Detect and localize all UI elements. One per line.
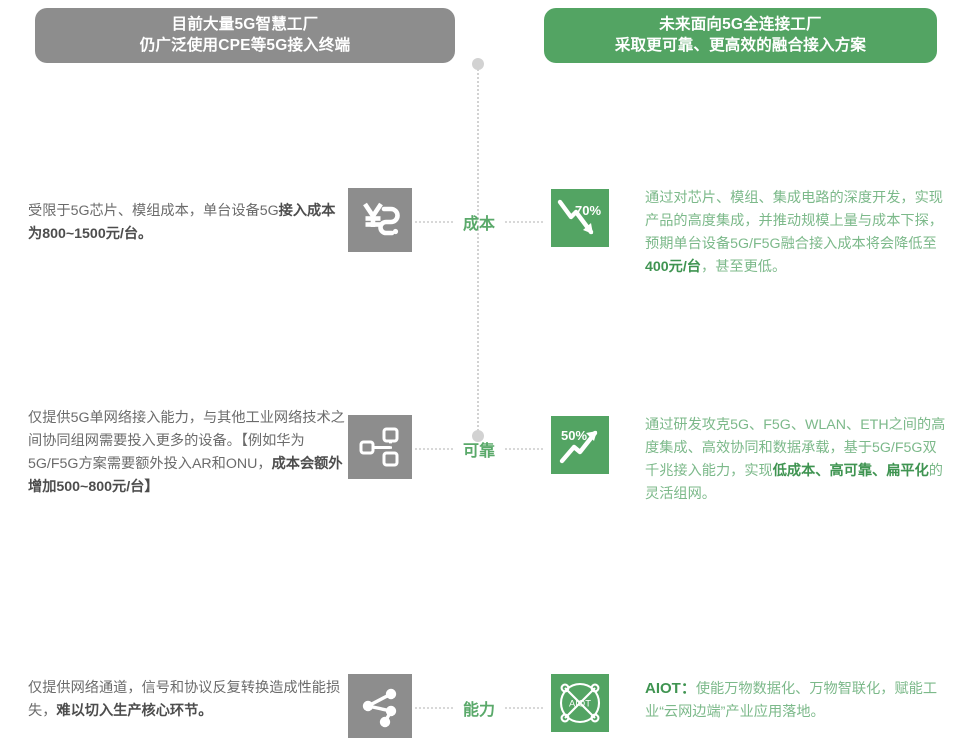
header-right-line1: 未来面向5G全连接工厂: [659, 15, 821, 35]
aiot-orbit-icon: AIOT: [551, 674, 609, 732]
connector-capability: 能力: [415, 699, 543, 717]
connector-dash-right: [505, 707, 543, 709]
header-right-line2: 采取更可靠、更高效的融合接入方案: [615, 36, 866, 56]
row-reliability-right-text-bold: 低成本、高可靠、扁平化: [773, 463, 929, 479]
comparison-row-cost: 受限于5G芯片、模组成本，单台设备5G接入成本为800~1500元/台。 成本 …: [0, 88, 953, 198]
header-pill-current-state: 目前大量5G智慧工厂 仍广泛使用CPE等5G接入终端: [35, 8, 455, 63]
connector-reliability: 可靠: [415, 440, 543, 458]
connector-dash-left: [415, 707, 453, 709]
row-capability-right-text-lead: AIOT：: [645, 680, 696, 697]
connector-label-reliability: 可靠: [453, 437, 505, 461]
center-divider-dot-top: [472, 58, 484, 70]
connector-label-capability: 能力: [453, 696, 505, 720]
connector-dash-left: [415, 448, 453, 450]
comparison-row-reliability: 仅提供5G单网络接入能力，与其他工业网络技术之间协同组网需要投入更多的设备。【例…: [0, 200, 953, 310]
aiot-icon-label: AIOT: [569, 698, 591, 709]
row-capability-right-text: AIOT：使能万物数据化、万物智联化，赋能工业“云网边端”产业应用落地。: [645, 677, 947, 724]
connector-dash-right: [505, 448, 543, 450]
row-capability-left-text-bold: 难以切入生产核心环节。: [56, 703, 212, 719]
header-left-line2: 仍广泛使用CPE等5G接入终端: [140, 36, 351, 56]
header-left-line1: 目前大量5G智慧工厂: [172, 15, 319, 35]
share-nodes-icon: [348, 674, 412, 738]
comparison-row-capability: 仅提供网络通道，信号和协议反复转换造成性能损失，难以切入生产核心环节。 能力: [0, 330, 953, 440]
row-capability-left-text: 仅提供网络通道，信号和协议反复转换造成性能损失，难以切入生产核心环节。: [28, 677, 346, 723]
header-pill-future-state: 未来面向5G全连接工厂 采取更可靠、更高效的融合接入方案: [544, 8, 937, 63]
